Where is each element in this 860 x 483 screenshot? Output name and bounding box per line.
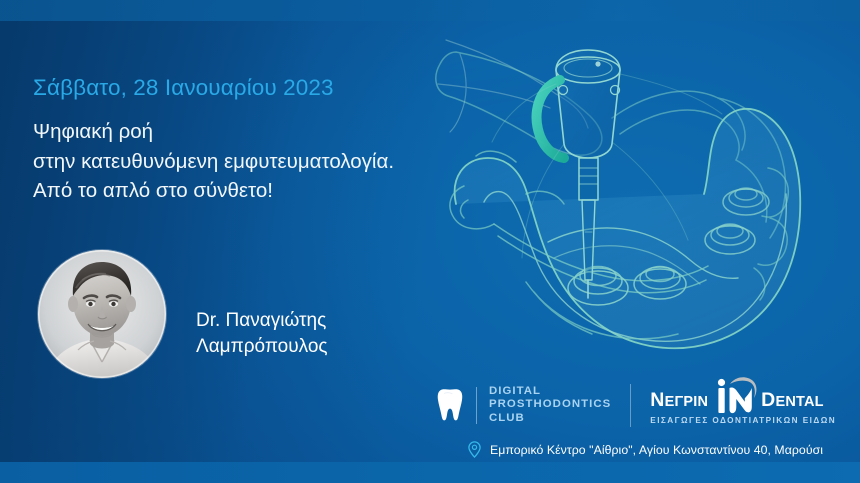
negrin-subtitle: ΕΙΣΑΓΩΓΕΣ ΟΔΟΝΤΙΑΤΡΙΚΩΝ ΕΙΔΩΝ — [650, 416, 836, 425]
negrin-word-right-small: ENTAL — [775, 394, 823, 410]
dpc-wordmark: DIGITAL PROSTHODONTICS CLUB — [489, 385, 611, 425]
speaker-name-line-2: Λαμπρόπουλος — [196, 334, 328, 360]
location-pin-icon — [468, 441, 481, 458]
negrin-word-left: ΝΕΓΡΙΝ — [650, 391, 708, 413]
logo-separator — [630, 384, 631, 427]
tooth-swoosh-icon — [712, 375, 758, 415]
logo-row: DIGITAL PROSTHODONTICS CLUB ΝΕΓΡΙΝ — [437, 381, 836, 429]
headline-line-2: στην κατευθυνόμενη εμφυτευματολογία. — [33, 147, 394, 177]
event-banner: Σάββατο, 28 Ιανουαρίου 2023 Ψηφιακή ροή … — [0, 0, 860, 483]
venue-address: Εμπορικό Κέντρο "Αίθριο", Αγίου Κωνσταντ… — [468, 441, 823, 458]
negrin-wordmark: ΝΕΓΡΙΝ DENTAL — [650, 382, 836, 412]
headline-line-3: Από το απλό στο σύνθετο! — [33, 176, 394, 206]
negrin-dental-logo: ΝΕΓΡΙΝ DENTAL ΕΙΣΑΓΩΓΕΣ ΟΔΟΝΤΙΑΤΡΙΚΩΝ ΕΙ… — [650, 382, 836, 428]
speaker-name-line-1: Dr. Παναγιώτης — [196, 308, 328, 334]
background-bottom-band — [0, 462, 860, 483]
logo-divider — [476, 387, 477, 424]
event-date: Σάββατο, 28 Ιανουαρίου 2023 — [33, 75, 334, 101]
negrin-word-left-small: ΕΓΡΙΝ — [665, 394, 709, 410]
tooth-icon — [437, 388, 463, 422]
speaker-avatar — [38, 250, 166, 378]
background-top-band — [0, 0, 860, 21]
headline-line-1: Ψηφιακή ροή — [33, 117, 394, 147]
dpc-line-2: PROSTHODONTICS — [489, 398, 611, 411]
negrin-word-right: DENTAL — [761, 391, 824, 413]
venue-address-text: Εμπορικό Κέντρο "Αίθριο", Αγίου Κωνσταντ… — [490, 443, 823, 457]
dpc-line-1: DIGITAL — [489, 385, 611, 398]
speaker-name: Dr. Παναγιώτης Λαμπρόπουλος — [196, 308, 328, 360]
digital-prosthodontics-club-logo: DIGITAL PROSTHODONTICS CLUB — [437, 383, 611, 427]
event-headline: Ψηφιακή ροή στην κατευθυνόμενη εμφυτευμα… — [33, 117, 394, 206]
dpc-line-3: CLUB — [489, 412, 611, 425]
